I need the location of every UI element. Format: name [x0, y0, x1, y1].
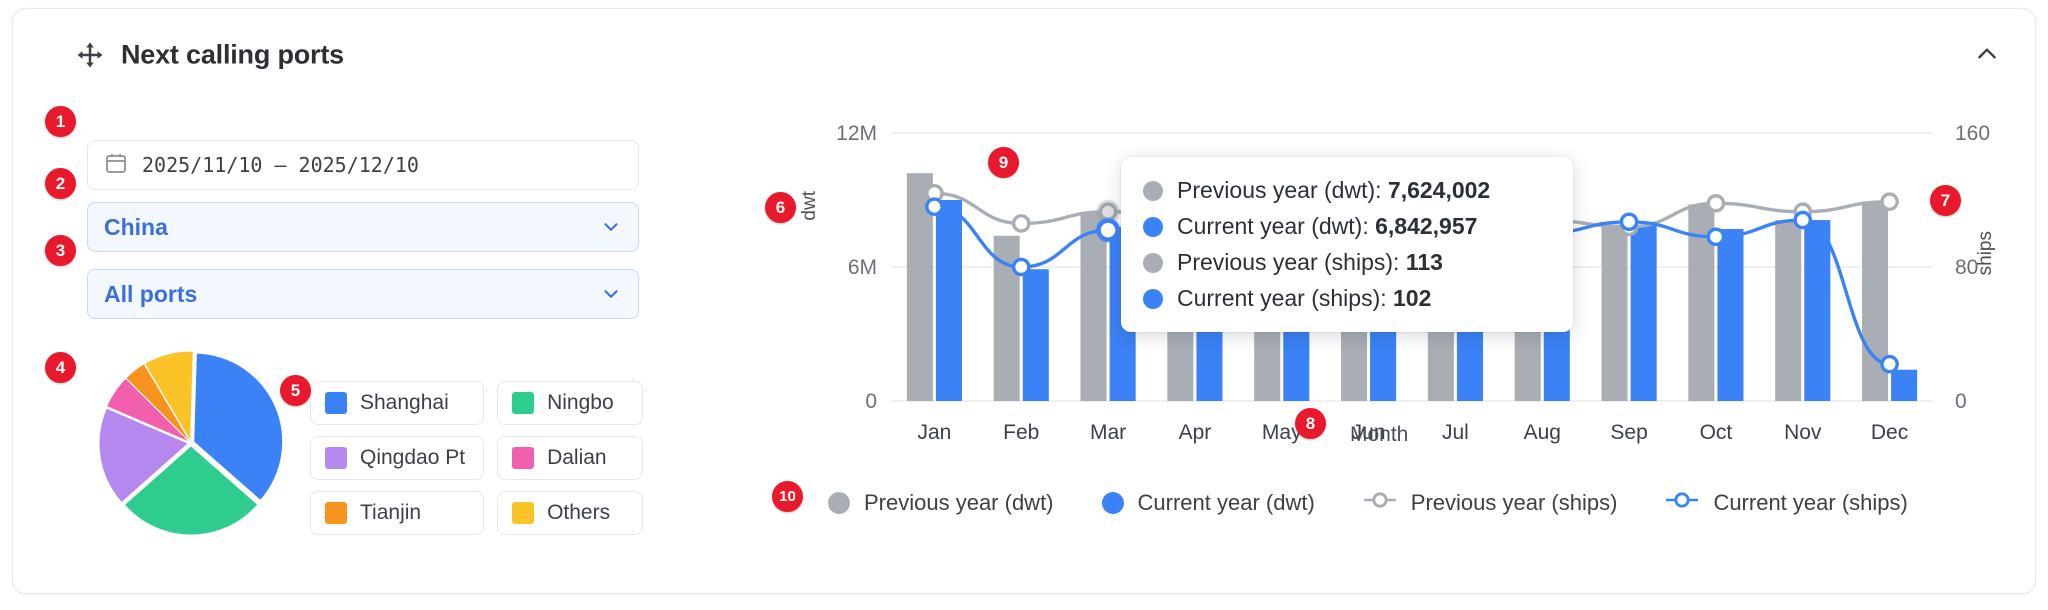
- x-tick-oct: Oct: [1700, 421, 1733, 444]
- ports-pie-chart: [91, 351, 291, 536]
- tooltip-row: Previous year (ships): 113: [1143, 249, 1551, 276]
- chevron-up-icon: [1974, 41, 2000, 70]
- y-tick-left: 0: [865, 390, 877, 413]
- color-swatch: [512, 392, 534, 414]
- chart-legend: Previous year (dwt)Current year (dwt) Pr…: [828, 489, 1908, 516]
- pie-legend-item-tianjin[interactable]: Tianjin: [310, 491, 484, 535]
- collapse-button[interactable]: [1965, 33, 2009, 77]
- pie-legend-item-others[interactable]: Others: [497, 491, 643, 535]
- pie-legend-label: Qingdao Pt: [360, 446, 465, 470]
- color-swatch: [325, 447, 347, 469]
- annotation-badge-3: 3: [45, 235, 76, 266]
- tooltip-row: Current year (dwt): 6,842,957: [1143, 213, 1551, 240]
- ports-select[interactable]: All ports: [87, 269, 639, 319]
- annotation-badge-8: 8: [1295, 408, 1326, 439]
- chart-legend-label: Previous year (ships): [1411, 490, 1618, 516]
- pie-legend-item-qingdao-pt[interactable]: Qingdao Pt: [310, 436, 484, 480]
- x-tick-sep: Sep: [1610, 421, 1647, 444]
- x-axis-label-month: Month: [1350, 423, 1408, 447]
- bar-sep-current[interactable]: [1631, 225, 1657, 401]
- date-range-value: 2025/11/10 – 2025/12/10: [142, 153, 419, 177]
- tooltip-text: Current year (dwt): 6,842,957: [1177, 213, 1477, 240]
- point-nov-current[interactable]: [1795, 213, 1810, 228]
- x-tick-apr: Apr: [1179, 421, 1212, 444]
- country-select[interactable]: China: [87, 202, 639, 252]
- chart-legend-item-previous-year-ships[interactable]: Previous year (ships): [1363, 489, 1618, 516]
- next-calling-ports-card: Next calling ports 2025/11/10 – 2025/12/…: [12, 8, 2036, 594]
- chart-legend-label: Previous year (dwt): [864, 490, 1054, 516]
- bar-oct-current[interactable]: [1717, 229, 1743, 401]
- x-tick-dec: Dec: [1871, 421, 1908, 444]
- tooltip-row: Current year (ships): 102: [1143, 285, 1551, 312]
- chart-legend-item-previous-year-dwt[interactable]: Previous year (dwt): [828, 490, 1054, 516]
- date-range-input[interactable]: 2025/11/10 – 2025/12/10: [87, 140, 639, 190]
- chart-legend-item-current-year-ships[interactable]: Current year (ships): [1665, 489, 1907, 516]
- pie-legend: ShanghaiNingboQingdao PtDalianTianjinOth…: [310, 381, 643, 535]
- series-dot: [828, 492, 850, 514]
- tooltip-text: Previous year (dwt): 7,624,002: [1177, 177, 1490, 204]
- page-title: Next calling ports: [121, 40, 344, 71]
- x-tick-jul: Jul: [1442, 421, 1469, 444]
- chevron-down-icon: [600, 216, 622, 238]
- annotation-badge-6: 6: [765, 192, 796, 223]
- bar-nov-previous[interactable]: [1775, 220, 1801, 401]
- y-axis-label-dwt: dwt: [799, 191, 821, 221]
- bar-sep-previous[interactable]: [1602, 225, 1628, 401]
- point-oct-current[interactable]: [1708, 229, 1723, 244]
- series-dot: [1143, 217, 1163, 237]
- pie-legend-item-ningbo[interactable]: Ningbo: [497, 381, 643, 425]
- point-jan-current[interactable]: [927, 199, 942, 214]
- bar-nov-current[interactable]: [1804, 220, 1830, 401]
- y-tick-left: 6M: [848, 256, 877, 279]
- bar-feb-current[interactable]: [1023, 269, 1049, 401]
- ports-select-value: All ports: [104, 281, 197, 308]
- y-tick-left: 12M: [836, 122, 877, 145]
- tooltip-text: Previous year (ships): 113: [1177, 249, 1443, 276]
- annotation-badge-7: 7: [1930, 185, 1961, 216]
- series-line-marker: [1363, 489, 1397, 516]
- point-dec-current[interactable]: [1882, 357, 1897, 372]
- y-tick-right: 0: [1955, 390, 1967, 413]
- country-select-value: China: [104, 214, 168, 241]
- bar-dec-current[interactable]: [1891, 370, 1917, 401]
- pie-legend-label: Tianjin: [360, 501, 421, 525]
- series-dot: [1102, 492, 1124, 514]
- color-swatch: [512, 502, 534, 524]
- annotation-badge-2: 2: [45, 168, 76, 199]
- annotation-badge-5: 5: [280, 375, 311, 406]
- series-dot: [1143, 289, 1163, 309]
- calendar-icon: [104, 151, 128, 180]
- pie-legend-item-shanghai[interactable]: Shanghai: [310, 381, 484, 425]
- point-feb-previous[interactable]: [1014, 216, 1029, 231]
- move-icon[interactable]: [75, 40, 105, 70]
- x-tick-aug: Aug: [1524, 421, 1561, 444]
- point-dec-previous[interactable]: [1882, 194, 1897, 209]
- tooltip-text: Current year (ships): 102: [1177, 285, 1431, 312]
- annotation-badge-9: 9: [988, 147, 1019, 178]
- point-oct-previous[interactable]: [1708, 196, 1723, 211]
- hover-point-current: [1099, 221, 1118, 240]
- point-feb-current[interactable]: [1014, 259, 1029, 274]
- bar-jan-current[interactable]: [936, 200, 962, 401]
- color-swatch: [325, 502, 347, 524]
- annotation-badge-1: 1: [45, 106, 76, 137]
- pie-legend-item-dalian[interactable]: Dalian: [497, 436, 643, 480]
- pie-legend-label: Ningbo: [547, 391, 614, 415]
- annotation-badge-4: 4: [45, 352, 76, 383]
- chevron-down-icon: [600, 283, 622, 305]
- pie-legend-label: Others: [547, 501, 610, 525]
- point-sep-current[interactable]: [1621, 214, 1636, 229]
- pie-legend-label: Shanghai: [360, 391, 449, 415]
- color-swatch: [512, 447, 534, 469]
- chart-legend-label: Current year (ships): [1713, 490, 1907, 516]
- x-tick-jan: Jan: [917, 421, 951, 444]
- chart-tooltip: Previous year (dwt): 7,624,002 Current y…: [1121, 157, 1573, 332]
- annotation-badge-10: 10: [772, 481, 803, 512]
- pie-legend-label: Dalian: [547, 446, 607, 470]
- card-header: Next calling ports: [13, 9, 2035, 101]
- chart-legend-item-current-year-dwt[interactable]: Current year (dwt): [1102, 490, 1315, 516]
- tooltip-row: Previous year (dwt): 7,624,002: [1143, 177, 1551, 204]
- series-dot: [1143, 253, 1163, 273]
- x-tick-mar: Mar: [1090, 421, 1126, 444]
- color-swatch: [325, 392, 347, 414]
- y-axis-label-ships: ships: [1975, 231, 1997, 275]
- x-tick-feb: Feb: [1003, 421, 1039, 444]
- series-dot: [1143, 181, 1163, 201]
- x-tick-nov: Nov: [1784, 421, 1822, 444]
- chart-legend-label: Current year (dwt): [1138, 490, 1315, 516]
- series-line-marker: [1665, 489, 1699, 516]
- y-tick-right: 160: [1955, 122, 1990, 145]
